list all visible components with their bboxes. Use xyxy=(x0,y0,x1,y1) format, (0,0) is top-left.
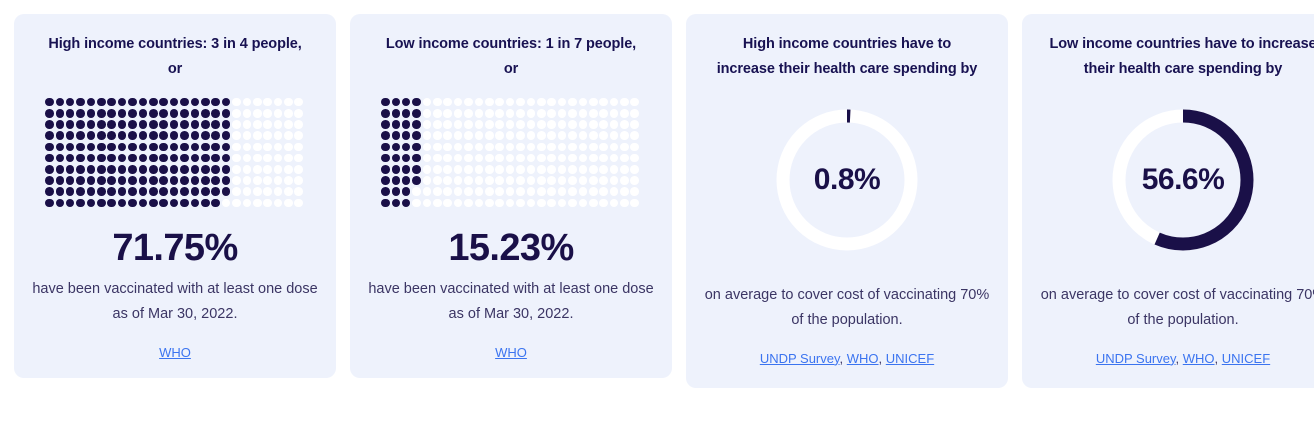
waffle-dot xyxy=(87,165,96,174)
waffle-dot xyxy=(589,131,598,140)
waffle-dot xyxy=(433,176,442,185)
waffle-dot xyxy=(56,176,65,185)
source-link-unicef[interactable]: UNICEF xyxy=(886,351,934,366)
waffle-dot xyxy=(284,187,293,196)
waffle-dot xyxy=(139,131,148,140)
waffle-dot xyxy=(180,165,189,174)
waffle-dot xyxy=(294,98,303,107)
stat-description: have been vaccinated with at least one d… xyxy=(366,277,656,327)
waffle-dot xyxy=(620,199,629,208)
waffle-dot xyxy=(475,120,484,129)
waffle-dot xyxy=(222,187,231,196)
waffle-dot xyxy=(159,199,168,208)
waffle-dot xyxy=(516,143,525,152)
waffle-dot xyxy=(454,131,463,140)
waffle-dot xyxy=(537,199,546,208)
waffle-dot xyxy=(180,176,189,185)
waffle-dot xyxy=(558,154,567,163)
waffle-dot xyxy=(475,165,484,174)
waffle-dot xyxy=(630,120,639,129)
waffle-dot xyxy=(87,120,96,129)
waffle-dot xyxy=(392,199,401,208)
waffle-dot xyxy=(516,165,525,174)
waffle-dot xyxy=(630,131,639,140)
waffle-dot xyxy=(381,98,390,107)
waffle-dot xyxy=(107,120,116,129)
waffle-dot xyxy=(87,98,96,107)
waffle-dot xyxy=(620,131,629,140)
waffle-dot xyxy=(516,199,525,208)
waffle-dot xyxy=(97,176,106,185)
waffle-dot xyxy=(589,120,598,129)
source-link-who[interactable]: WHO xyxy=(495,345,527,360)
stat-value: 71.75% xyxy=(112,229,237,267)
waffle-dot xyxy=(620,187,629,196)
waffle-dot xyxy=(159,165,168,174)
waffle-dot xyxy=(294,165,303,174)
waffle-dot xyxy=(149,176,158,185)
waffle-dot xyxy=(610,120,619,129)
waffle-dot xyxy=(381,120,390,129)
card-title: Low income countries: 1 in 7 people, or xyxy=(377,32,645,83)
waffle-dot xyxy=(454,143,463,152)
waffle-dot xyxy=(232,199,241,208)
waffle-dot xyxy=(516,98,525,107)
waffle-dot xyxy=(45,176,54,185)
waffle-dot xyxy=(107,143,116,152)
waffle-dot xyxy=(485,109,494,118)
waffle-dot xyxy=(558,199,567,208)
waffle-dot xyxy=(243,165,252,174)
waffle-dot xyxy=(118,131,127,140)
waffle-dot xyxy=(76,187,85,196)
waffle-dot xyxy=(537,98,546,107)
waffle-dot xyxy=(263,187,272,196)
waffle-dot xyxy=(516,120,525,129)
waffle-dot xyxy=(547,109,556,118)
waffle-dot xyxy=(547,165,556,174)
waffle-dot xyxy=(159,187,168,196)
waffle-dot xyxy=(454,154,463,163)
waffle-dot xyxy=(392,165,401,174)
waffle-dot xyxy=(454,120,463,129)
waffle-dot xyxy=(76,109,85,118)
waffle-dot xyxy=(284,199,293,208)
waffle-dot xyxy=(537,187,546,196)
waffle-dot xyxy=(128,199,137,208)
waffle-dot xyxy=(620,109,629,118)
waffle-dot xyxy=(381,199,390,208)
waffle-dot xyxy=(568,98,577,107)
source-link-who[interactable]: WHO xyxy=(159,345,191,360)
waffle-dot xyxy=(211,154,220,163)
waffle-dot xyxy=(412,176,421,185)
waffle-dot xyxy=(402,109,411,118)
waffle-dot xyxy=(547,199,556,208)
waffle-dot xyxy=(170,109,179,118)
waffle-dot xyxy=(56,154,65,163)
waffle-dot xyxy=(274,143,283,152)
source-separator: , xyxy=(1176,351,1183,366)
waffle-dot xyxy=(274,98,283,107)
waffle-dot xyxy=(243,98,252,107)
waffle-dot xyxy=(294,131,303,140)
waffle-dot xyxy=(107,187,116,196)
waffle-dot xyxy=(610,154,619,163)
waffle-dot xyxy=(191,131,200,140)
source-link-undp-survey[interactable]: UNDP Survey xyxy=(1096,351,1176,366)
waffle-dot xyxy=(97,98,106,107)
waffle-dot xyxy=(284,143,293,152)
waffle-dot xyxy=(495,199,504,208)
waffle-dot xyxy=(107,154,116,163)
waffle-dot xyxy=(87,109,96,118)
waffle-dot xyxy=(443,131,452,140)
waffle-dot xyxy=(568,176,577,185)
waffle-dot xyxy=(527,199,536,208)
waffle-dot xyxy=(211,176,220,185)
waffle-dot xyxy=(589,109,598,118)
waffle-dot xyxy=(547,176,556,185)
waffle-dot xyxy=(128,143,137,152)
source-separator: , xyxy=(840,351,847,366)
waffle-dot xyxy=(485,131,494,140)
waffle-dot xyxy=(412,199,421,208)
waffle-dot xyxy=(579,154,588,163)
waffle-dot xyxy=(118,98,127,107)
waffle-dot xyxy=(170,154,179,163)
waffle-dot xyxy=(423,187,432,196)
waffle-dot xyxy=(66,154,75,163)
waffle-dot xyxy=(222,143,231,152)
waffle-dot xyxy=(610,187,619,196)
waffle-dot xyxy=(253,154,262,163)
waffle-dot xyxy=(253,199,262,208)
waffle-dot xyxy=(222,176,231,185)
waffle-dot xyxy=(568,109,577,118)
waffle-dot xyxy=(284,109,293,118)
waffle-dot xyxy=(149,199,158,208)
waffle-dot xyxy=(506,176,515,185)
waffle-dot xyxy=(475,143,484,152)
waffle-dot xyxy=(630,143,639,152)
waffle-dot xyxy=(516,154,525,163)
waffle-dot xyxy=(423,143,432,152)
waffle-dot xyxy=(516,131,525,140)
waffle-dot xyxy=(402,165,411,174)
waffle-dot xyxy=(506,109,515,118)
waffle-dot xyxy=(232,154,241,163)
waffle-dot xyxy=(610,131,619,140)
waffle-dot xyxy=(263,165,272,174)
waffle-dot xyxy=(579,109,588,118)
stat-description: on average to cover cost of vaccinating … xyxy=(1038,283,1314,333)
waffle-dot xyxy=(97,131,106,140)
waffle-dot xyxy=(284,120,293,129)
waffle-dot xyxy=(537,154,546,163)
waffle-dot xyxy=(630,176,639,185)
waffle-dot xyxy=(243,154,252,163)
waffle-dot xyxy=(495,131,504,140)
card-title: High income countries: 3 in 4 people, or xyxy=(41,32,309,83)
waffle-dot xyxy=(464,120,473,129)
waffle-dot xyxy=(589,165,598,174)
waffle-dot xyxy=(107,131,116,140)
waffle-dot xyxy=(170,120,179,129)
waffle-dot xyxy=(464,165,473,174)
waffle-dot xyxy=(402,98,411,107)
waffle-dot xyxy=(537,131,546,140)
waffle-dot xyxy=(170,98,179,107)
waffle-dot xyxy=(568,154,577,163)
waffle-dot xyxy=(402,176,411,185)
donut-center-value: 56.6% xyxy=(1107,104,1259,256)
waffle-dot xyxy=(45,131,54,140)
waffle-dot xyxy=(579,131,588,140)
source-link-unicef[interactable]: UNICEF xyxy=(1222,351,1270,366)
waffle-dot xyxy=(191,98,200,107)
waffle-dot xyxy=(443,165,452,174)
waffle-dot xyxy=(211,143,220,152)
waffle-dot xyxy=(294,187,303,196)
waffle-dot xyxy=(274,165,283,174)
waffle-dot xyxy=(149,165,158,174)
waffle-dot xyxy=(87,131,96,140)
waffle-dot xyxy=(222,120,231,129)
waffle-dot xyxy=(139,154,148,163)
waffle-dot xyxy=(232,98,241,107)
infographic-board: High income countries: 3 in 4 people, or… xyxy=(0,0,1314,422)
waffle-dot xyxy=(201,98,210,107)
waffle-dot xyxy=(495,143,504,152)
waffle-dot xyxy=(433,120,442,129)
waffle-dot xyxy=(402,199,411,208)
waffle-dot xyxy=(87,154,96,163)
source-links: UNDP Survey, WHO, UNICEF xyxy=(760,349,934,369)
source-links: WHO xyxy=(159,343,191,363)
waffle-dot xyxy=(56,109,65,118)
waffle-dot xyxy=(579,143,588,152)
waffle-dot xyxy=(589,199,598,208)
waffle-dot xyxy=(485,154,494,163)
waffle-dot xyxy=(139,98,148,107)
waffle-dot xyxy=(402,120,411,129)
waffle-dot xyxy=(547,98,556,107)
waffle-dot xyxy=(76,165,85,174)
waffle-dot xyxy=(412,154,421,163)
source-links: UNDP Survey, WHO, UNICEF xyxy=(1096,349,1270,369)
waffle-dot xyxy=(274,120,283,129)
waffle-dot xyxy=(139,109,148,118)
waffle-dot xyxy=(97,143,106,152)
waffle-dot xyxy=(506,98,515,107)
waffle-chart-low-income xyxy=(381,95,641,213)
waffle-dot xyxy=(599,109,608,118)
waffle-dot xyxy=(527,98,536,107)
waffle-dot xyxy=(180,199,189,208)
waffle-dot xyxy=(433,165,442,174)
waffle-dot xyxy=(464,98,473,107)
waffle-dot xyxy=(159,120,168,129)
waffle-dot xyxy=(579,199,588,208)
waffle-dot xyxy=(433,187,442,196)
stat-description: have been vaccinated with at least one d… xyxy=(30,277,320,327)
waffle-dot xyxy=(107,109,116,118)
waffle-dot xyxy=(423,165,432,174)
waffle-dot xyxy=(118,199,127,208)
waffle-dot xyxy=(45,187,54,196)
waffle-dot xyxy=(263,131,272,140)
waffle-dot xyxy=(537,120,546,129)
waffle-dot xyxy=(263,199,272,208)
source-link-who[interactable]: WHO xyxy=(1183,351,1215,366)
waffle-dot xyxy=(180,98,189,107)
waffle-dot xyxy=(392,187,401,196)
waffle-dot xyxy=(599,165,608,174)
waffle-dot xyxy=(139,143,148,152)
waffle-dot xyxy=(232,109,241,118)
waffle-dot xyxy=(45,165,54,174)
waffle-dot xyxy=(412,120,421,129)
waffle-dot xyxy=(284,98,293,107)
waffle-dot xyxy=(97,165,106,174)
waffle-dot xyxy=(159,154,168,163)
waffle-dot xyxy=(76,154,85,163)
waffle-dot xyxy=(294,109,303,118)
waffle-dot xyxy=(253,98,262,107)
waffle-dot xyxy=(381,154,390,163)
waffle-dot xyxy=(599,176,608,185)
waffle-dot xyxy=(402,143,411,152)
waffle-dot xyxy=(599,154,608,163)
waffle-dot xyxy=(76,98,85,107)
waffle-dot xyxy=(45,154,54,163)
waffle-dot xyxy=(506,154,515,163)
waffle-dot xyxy=(253,109,262,118)
waffle-dot xyxy=(558,98,567,107)
waffle-dot xyxy=(579,187,588,196)
waffle-dot xyxy=(232,143,241,152)
waffle-dot xyxy=(610,165,619,174)
waffle-dot xyxy=(107,98,116,107)
waffle-dot xyxy=(139,176,148,185)
waffle-dot xyxy=(547,143,556,152)
waffle-dot xyxy=(294,176,303,185)
waffle-dot xyxy=(97,154,106,163)
waffle-dot xyxy=(170,199,179,208)
waffle-dot xyxy=(45,143,54,152)
waffle-dot xyxy=(149,109,158,118)
waffle-dot xyxy=(211,120,220,129)
waffle-dot xyxy=(222,131,231,140)
waffle-dot xyxy=(118,143,127,152)
waffle-dot xyxy=(495,120,504,129)
waffle-dot xyxy=(433,131,442,140)
waffle-dot xyxy=(495,109,504,118)
waffle-dot xyxy=(558,109,567,118)
waffle-dot xyxy=(630,98,639,107)
waffle-dot xyxy=(263,143,272,152)
waffle-dot xyxy=(180,187,189,196)
waffle-dot xyxy=(454,165,463,174)
waffle-dot xyxy=(381,187,390,196)
waffle-dot xyxy=(558,187,567,196)
waffle-dot xyxy=(599,131,608,140)
waffle-dot xyxy=(180,120,189,129)
stat-description: on average to cover cost of vaccinating … xyxy=(702,283,992,333)
waffle-dot xyxy=(599,120,608,129)
waffle-dot xyxy=(274,199,283,208)
waffle-dot xyxy=(495,98,504,107)
waffle-dot xyxy=(464,176,473,185)
waffle-dot xyxy=(620,98,629,107)
waffle-dot xyxy=(191,176,200,185)
waffle-dot xyxy=(191,154,200,163)
waffle-dot xyxy=(274,131,283,140)
waffle-dot xyxy=(149,98,158,107)
waffle-dot xyxy=(412,131,421,140)
waffle-dot xyxy=(170,131,179,140)
waffle-dot xyxy=(547,131,556,140)
stat-card-low-income-vaccination: Low income countries: 1 in 7 people, or … xyxy=(350,14,672,378)
waffle-dot xyxy=(506,120,515,129)
waffle-dot xyxy=(87,143,96,152)
waffle-dot xyxy=(423,154,432,163)
waffle-dot xyxy=(159,143,168,152)
waffle-dot xyxy=(222,98,231,107)
waffle-dot xyxy=(610,176,619,185)
waffle-dot xyxy=(201,120,210,129)
waffle-dot xyxy=(211,165,220,174)
waffle-dot xyxy=(630,109,639,118)
waffle-dot xyxy=(274,109,283,118)
waffle-dot xyxy=(253,165,262,174)
waffle-dot xyxy=(506,131,515,140)
waffle-dot xyxy=(412,187,421,196)
waffle-dot xyxy=(284,131,293,140)
waffle-dot xyxy=(423,120,432,129)
waffle-dot xyxy=(128,120,137,129)
waffle-dot xyxy=(423,199,432,208)
waffle-dot xyxy=(201,165,210,174)
source-link-undp-survey[interactable]: UNDP Survey xyxy=(760,351,840,366)
waffle-dot xyxy=(97,199,106,208)
waffle-dot xyxy=(402,131,411,140)
waffle-dot xyxy=(589,154,598,163)
waffle-dot xyxy=(402,154,411,163)
donut-gauge: 0.8% xyxy=(771,104,923,256)
waffle-dot xyxy=(454,187,463,196)
card-title: High income countries have to increase t… xyxy=(713,32,981,83)
waffle-dot xyxy=(433,143,442,152)
source-link-who[interactable]: WHO xyxy=(847,351,879,366)
donut-chart-low-income-spending: 56.6% xyxy=(1107,101,1259,259)
waffle-dot xyxy=(243,187,252,196)
waffle-dot xyxy=(495,165,504,174)
stat-card-low-income-spending: Low income countries have to increase th… xyxy=(1022,14,1314,388)
waffle-dot xyxy=(433,199,442,208)
waffle-dot xyxy=(558,176,567,185)
waffle-dot xyxy=(443,187,452,196)
waffle-dot xyxy=(506,199,515,208)
waffle-dot xyxy=(201,176,210,185)
waffle-dot xyxy=(516,109,525,118)
waffle-dot xyxy=(464,187,473,196)
waffle-dot xyxy=(443,154,452,163)
waffle-dot xyxy=(454,199,463,208)
waffle-dot xyxy=(433,109,442,118)
waffle-dot xyxy=(45,199,54,208)
